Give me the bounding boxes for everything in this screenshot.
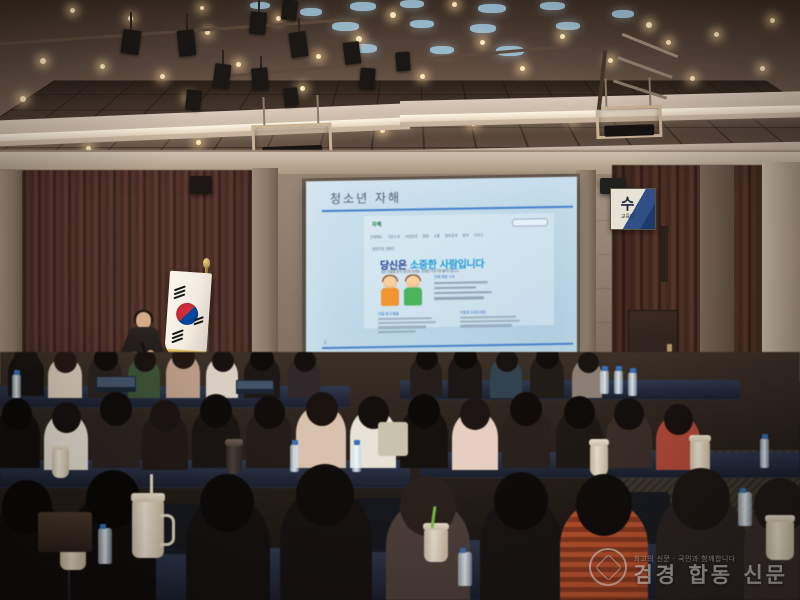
recessed-downlight (316, 54, 321, 59)
stage-light-fixture (213, 63, 232, 89)
stage-light-fixture (343, 41, 362, 65)
recessed-downlight (646, 22, 652, 28)
bottle-cap (354, 440, 360, 445)
ceiling-skylight (350, 2, 376, 11)
projector-body (604, 124, 655, 137)
character-body (404, 287, 422, 305)
attendee-head (100, 392, 132, 426)
bottle-cap (14, 370, 20, 375)
tumbler-lid (225, 439, 243, 446)
coffee-tumbler[interactable] (226, 444, 242, 474)
recessed-downlight (666, 40, 671, 45)
recessed-downlight (160, 74, 165, 79)
stage-light-fixture (120, 29, 141, 55)
character-orange (380, 276, 400, 306)
recessed-downlight (420, 74, 425, 79)
list-line (434, 286, 476, 289)
recessed-downlight (714, 32, 719, 37)
website-nav: 전체메뉴 기관소개 사업안내 알림 소통 정보공개 참여 더보기 (370, 230, 548, 240)
attendee-head (306, 392, 338, 426)
box-line (378, 330, 416, 333)
ceiling-skylight (540, 2, 565, 10)
ceiling-skylight (332, 22, 359, 31)
attendee-head (254, 396, 285, 429)
list-line (434, 281, 488, 285)
box-line (460, 316, 516, 319)
stage-light-fixture (185, 89, 202, 110)
recessed-downlight (770, 18, 775, 23)
box-line (460, 324, 512, 327)
box-line (378, 321, 436, 324)
water-bottle[interactable] (12, 374, 21, 398)
recessed-downlight (452, 2, 457, 7)
coffee-tumbler[interactable] (52, 448, 69, 478)
bottle-cap (762, 434, 768, 439)
large-tumbler[interactable] (132, 500, 164, 558)
coffee-cup[interactable] (424, 528, 448, 562)
attendee-head (578, 352, 599, 373)
attendee-head (2, 398, 32, 430)
laptop[interactable] (96, 376, 136, 392)
tumbler-straw (150, 474, 153, 498)
ceiling-skylight (400, 0, 424, 8)
website-search-box[interactable] (512, 218, 548, 227)
nav-item-1[interactable]: 기관소개 (387, 234, 399, 239)
nav-item-4[interactable]: 소통 (434, 233, 440, 238)
stage-light-fixture (249, 11, 267, 34)
recessed-downlight (690, 76, 695, 81)
water-bottle[interactable] (628, 372, 637, 396)
room-sign-sublabel: 교육장 (621, 213, 634, 220)
nav-item-3[interactable]: 알림 (422, 233, 428, 238)
ceiling-skylight (556, 22, 580, 30)
box-right-title: 이렇게 도와주세요 (460, 309, 520, 315)
bottle-cap (100, 524, 106, 529)
photo-scene: 수 교육장 청소년 자해 자해 전체메뉴 기관소개 사업안내 알림 소통 정보공… (0, 0, 800, 600)
character-body (381, 288, 399, 306)
recessed-downlight (100, 64, 105, 69)
bottle-cap (602, 366, 608, 371)
recessed-downlight (196, 140, 201, 145)
cup-lid (423, 523, 449, 530)
wall-column-center (252, 168, 278, 368)
recessed-downlight (760, 66, 765, 71)
water-bottle[interactable] (98, 528, 112, 564)
attendee-head (494, 472, 548, 530)
nav-item-0[interactable]: 전체메뉴 (370, 234, 382, 239)
character-green (403, 275, 423, 305)
audience-area (0, 352, 800, 600)
slide-title: 청소년 자해 (330, 189, 401, 207)
coffee-tumbler[interactable] (590, 444, 608, 476)
attendee-head (564, 396, 595, 429)
attendee-head (614, 398, 644, 430)
slide-right-list: 자해 예방 수칙 (434, 273, 496, 302)
wall-mounted-speaker (190, 176, 212, 194)
ceiling-skylight (478, 4, 506, 13)
doorway-dark-panel (660, 226, 668, 282)
nav-item-7[interactable]: 더보기 (474, 232, 483, 237)
website-logo: 자해 (372, 221, 382, 228)
flag-finial (203, 258, 210, 268)
recessed-downlight (200, 6, 204, 10)
attendee-head (200, 394, 232, 428)
stage-light-fixture (251, 67, 269, 90)
stage-light-fixture (395, 52, 410, 72)
stage-light-fixture (359, 68, 375, 90)
laptop[interactable] (236, 380, 274, 394)
box-line (460, 320, 520, 323)
box-line (378, 317, 432, 320)
recessed-downlight (236, 62, 241, 67)
box-line (378, 326, 426, 329)
water-bottle[interactable] (352, 444, 361, 472)
right-list-title: 자해 예방 수칙 (434, 273, 496, 279)
recessed-downlight (608, 58, 613, 63)
water-bottle[interactable] (458, 552, 472, 586)
slide-title-rule (322, 206, 573, 212)
tumbler-lid (589, 439, 609, 446)
recessed-downlight (390, 12, 396, 18)
attendee-head (664, 404, 693, 435)
water-bottle[interactable] (600, 370, 609, 394)
bottle-cap (616, 366, 622, 371)
handbag[interactable] (38, 512, 92, 552)
water-bottle[interactable] (614, 370, 623, 394)
stage-light-fixture (283, 87, 299, 106)
recessed-downlight (520, 66, 525, 71)
stage-light-fixture (177, 29, 197, 57)
water-bottle[interactable] (290, 444, 299, 472)
recessed-downlight (480, 40, 485, 45)
nav-item-6[interactable]: 참여 (462, 233, 468, 238)
room-sign-character: 수 (621, 197, 635, 212)
wall-column-far-right (700, 165, 734, 380)
bottle-cap (292, 440, 298, 445)
coffee-cup[interactable] (766, 520, 794, 560)
attendee-head (510, 392, 542, 426)
cup-lid (765, 515, 795, 522)
ceiling-skylight (430, 46, 454, 54)
ceiling-skylight (300, 8, 322, 16)
stage-light-fixture (281, 0, 298, 21)
slide-illustration (380, 275, 424, 306)
website-breadcrumb: 생명지킴 캠페인 (372, 246, 395, 251)
ceiling-projector-right (595, 105, 662, 139)
recessed-downlight (300, 86, 305, 91)
attendee-head (408, 394, 440, 428)
slide-box-left: 이럴 때 도움을 (378, 310, 438, 335)
recessed-downlight (560, 34, 565, 39)
box-left-title: 이럴 때 도움을 (378, 310, 438, 316)
attendee-head (296, 464, 354, 526)
bottle-cap (630, 368, 636, 373)
ceiling-skylight (410, 20, 434, 28)
attendee-head (52, 402, 81, 433)
slide-page-number: 1 (324, 340, 327, 345)
slide-website-capture: 자해 전체메뉴 기관소개 사업안내 알림 소통 정보공개 참여 더보기 생명지킴… (364, 213, 554, 328)
attendee-head (150, 400, 180, 432)
recessed-downlight (20, 96, 26, 102)
slide-box-right: 이렇게 도와주세요 (460, 309, 520, 330)
handbag[interactable] (378, 422, 408, 456)
bottle-cap (460, 548, 466, 553)
water-bottle[interactable] (760, 438, 769, 468)
water-bottle[interactable] (738, 492, 752, 526)
room-sign: 수 교육장 (610, 188, 656, 230)
attendee-head (200, 474, 254, 532)
list-line (434, 291, 492, 295)
attendee-head (672, 468, 730, 530)
ceiling-skylight (470, 24, 496, 33)
stage-light-fixture (288, 31, 308, 58)
tumbler-lid (689, 435, 711, 442)
ceiling-skylight (612, 10, 634, 18)
list-line (434, 296, 484, 299)
nav-item-5[interactable]: 정보공개 (445, 233, 457, 238)
projection-screen: 청소년 자해 자해 전체메뉴 기관소개 사업안내 알림 소통 정보공개 참여 더… (306, 177, 577, 359)
laptop-screen (237, 381, 273, 389)
attendee-head (460, 398, 490, 430)
recessed-downlight (40, 58, 46, 64)
tumbler-handle[interactable] (160, 514, 175, 546)
tumbler-lid (51, 443, 70, 450)
slide-bottom-rule (322, 343, 573, 349)
laptop-screen (97, 377, 135, 387)
ceiling-skylight (250, 2, 270, 9)
recessed-downlight (70, 8, 75, 13)
door-knob[interactable] (667, 344, 672, 352)
bottle-cap (740, 488, 746, 493)
korean-flag (164, 271, 212, 362)
attendee-head (576, 474, 632, 536)
tumbler-lid (131, 493, 165, 502)
wall-column-edge (762, 162, 800, 382)
nav-item-2[interactable]: 사업안내 (405, 233, 417, 238)
